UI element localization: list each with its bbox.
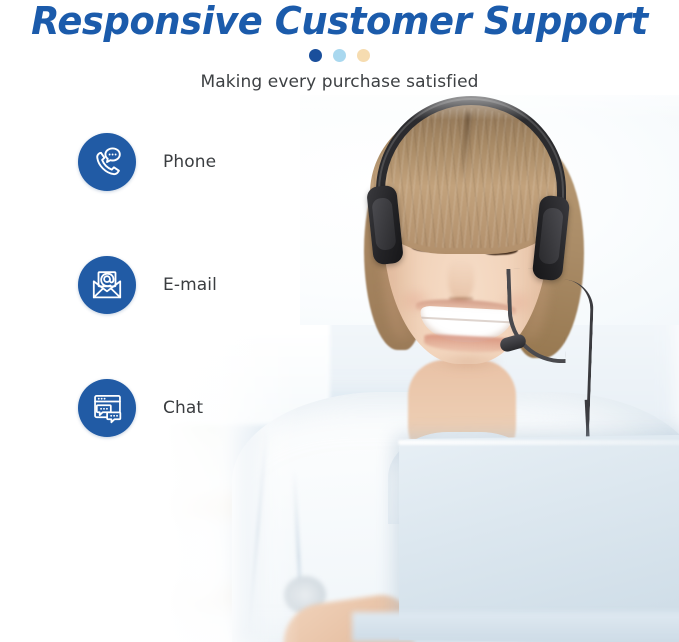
contact-channel-label: Chat [163, 398, 203, 418]
contact-channel-phone[interactable]: Phone [78, 133, 338, 191]
page-subtitle: Making every purchase satisfied [0, 72, 679, 92]
contact-channel-label: E-mail [163, 275, 217, 295]
page-title: Responsive Customer Support [10, 0, 669, 42]
dot-active [309, 49, 322, 62]
phone-chat-icon [78, 133, 136, 191]
contact-channel-chat[interactable]: Chat [78, 379, 338, 437]
envelope-at-icon [78, 256, 136, 314]
chat-window-icon [78, 379, 136, 437]
dot-indicator-group [0, 49, 679, 62]
dot-third [357, 49, 370, 62]
support-banner: Responsive Customer Support Making every… [0, 0, 679, 642]
banner-content: Responsive Customer Support Making every… [0, 0, 679, 642]
contact-channel-label: Phone [163, 152, 216, 172]
contact-channel-list: Phone [78, 133, 338, 437]
contact-channel-email[interactable]: E-mail [78, 256, 338, 314]
dot-second [333, 49, 346, 62]
